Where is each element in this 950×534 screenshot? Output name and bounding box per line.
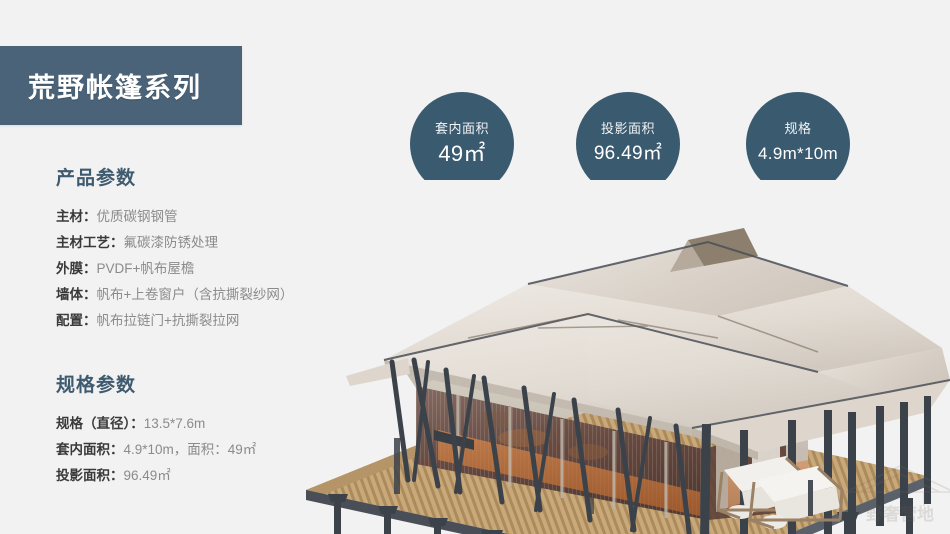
slide-canvas: 荒野帐篷系列 产品参数 主材：优质碳钢钢管 主材工艺：氟碳漆防锈处理 外膜：PV… [0,0,950,534]
spec-value: 13.5*7.6m [144,416,206,431]
title-banner: 荒野帐篷系列 [0,46,242,125]
stat-label: 规格 [784,120,811,137]
spec-value: PVDF+帆布屋檐 [97,261,195,276]
stat-value: 96.49㎡ [594,139,662,169]
spec-value: 优质碳钢钢管 [97,209,178,224]
interior-furniture [568,444,608,460]
deck-post [808,480,813,516]
spec-value: 4.9*10m，面积：49㎡ [124,442,257,457]
spec-value: 帆布+上卷窗户（含抗撕裂纱网） [97,287,294,302]
spec-label: 规格（直径）： [56,416,144,431]
stat-label: 投影面积 [601,120,655,137]
spec-label: 配置： [56,313,97,328]
interior-furniture [498,429,550,447]
stat-value: 49㎡ [438,139,485,169]
spec-label: 墙体： [56,287,97,302]
spec-label: 主材： [56,209,97,224]
spec-label: 主材工艺： [56,235,124,250]
spec-label: 外膜： [56,261,97,276]
stat-label: 套内面积 [435,120,489,137]
spec-label: 投影面积： [56,468,124,483]
spec-value: 帆布拉链门+抗撕裂拉网 [97,313,240,328]
stat-value: 4.9m*10m [758,139,838,169]
spec-label: 套内面积： [56,442,124,457]
spec-value: 氟碳漆防锈处理 [124,235,219,250]
product-render-image: 野奢营地 [288,180,950,534]
page-title: 荒野帐篷系列 [28,66,202,105]
spec-value: 96.49㎡ [124,468,171,483]
